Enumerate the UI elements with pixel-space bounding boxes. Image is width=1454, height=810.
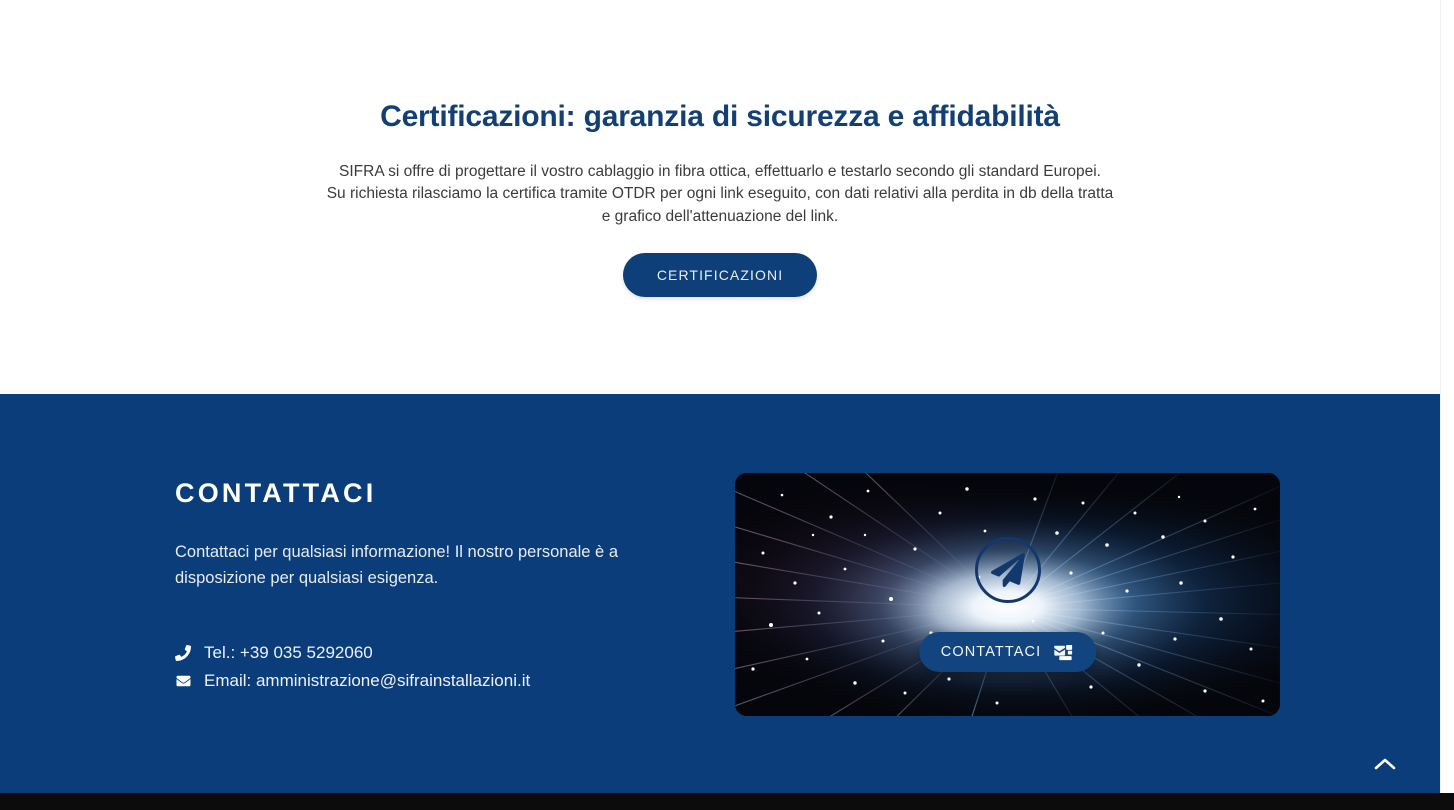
scroll-to-top-button[interactable] [1367,750,1403,776]
certifications-section: Certificazioni: garanzia di sicurezza e … [0,0,1440,394]
contact-description: Contattaci per qualsiasi informazione! I… [175,539,635,591]
contact-inner: CONTATTACI Contattaci per qualsiasi info… [175,394,1305,793]
page-scrollbar[interactable] [1440,0,1454,793]
contact-image-card-wrap: CONTATTACI [735,473,1280,716]
contact-section: CONTATTACI Contattaci per qualsiasi info… [0,394,1440,793]
paper-plane-icon [975,537,1041,603]
contact-image-button-label: CONTATTACI [941,644,1041,660]
contact-left-column: CONTATTACI Contattaci per qualsiasi info… [175,394,735,695]
fiber-optic-burst-image[interactable]: CONTATTACI [735,473,1280,716]
description-line-1: SIFRA si offre di progettare il vostro c… [240,161,1200,184]
contact-email-row[interactable]: Email: amministrazione@sifrainstallazion… [175,667,735,695]
page-title: Certificazioni: garanzia di sicurezza e … [380,98,1060,136]
chevron-up-icon [1374,757,1396,770]
envelope-icon [175,674,197,688]
contact-phone-row[interactable]: Tel.: +39 035 5292060 [175,639,735,667]
phone-icon [175,645,197,661]
contact-phone-label: Tel.: +39 035 5292060 [204,639,373,667]
contact-heading: CONTATTACI [175,480,735,507]
contact-details-list: Tel.: +39 035 5292060 Email: amministraz… [175,639,735,694]
contact-email-label: Email: amministrazione@sifrainstallazion… [204,667,530,695]
mail-stack-icon [1052,643,1074,661]
contact-image-button[interactable]: CONTATTACI [919,632,1096,672]
bottom-bar [0,793,1454,810]
page-root: Certificazioni: garanzia di sicurezza e … [0,0,1454,810]
certifications-description: SIFRA si offre di progettare il vostro c… [240,161,1200,229]
description-line-2: Su richiesta rilasciamo la certifica tra… [240,183,1200,206]
certifications-button-wrap: CERTIFICAZIONI [623,253,817,297]
certifications-button[interactable]: CERTIFICAZIONI [623,253,817,297]
description-line-3: e grafico dell'attenuazione del link. [240,206,1200,229]
